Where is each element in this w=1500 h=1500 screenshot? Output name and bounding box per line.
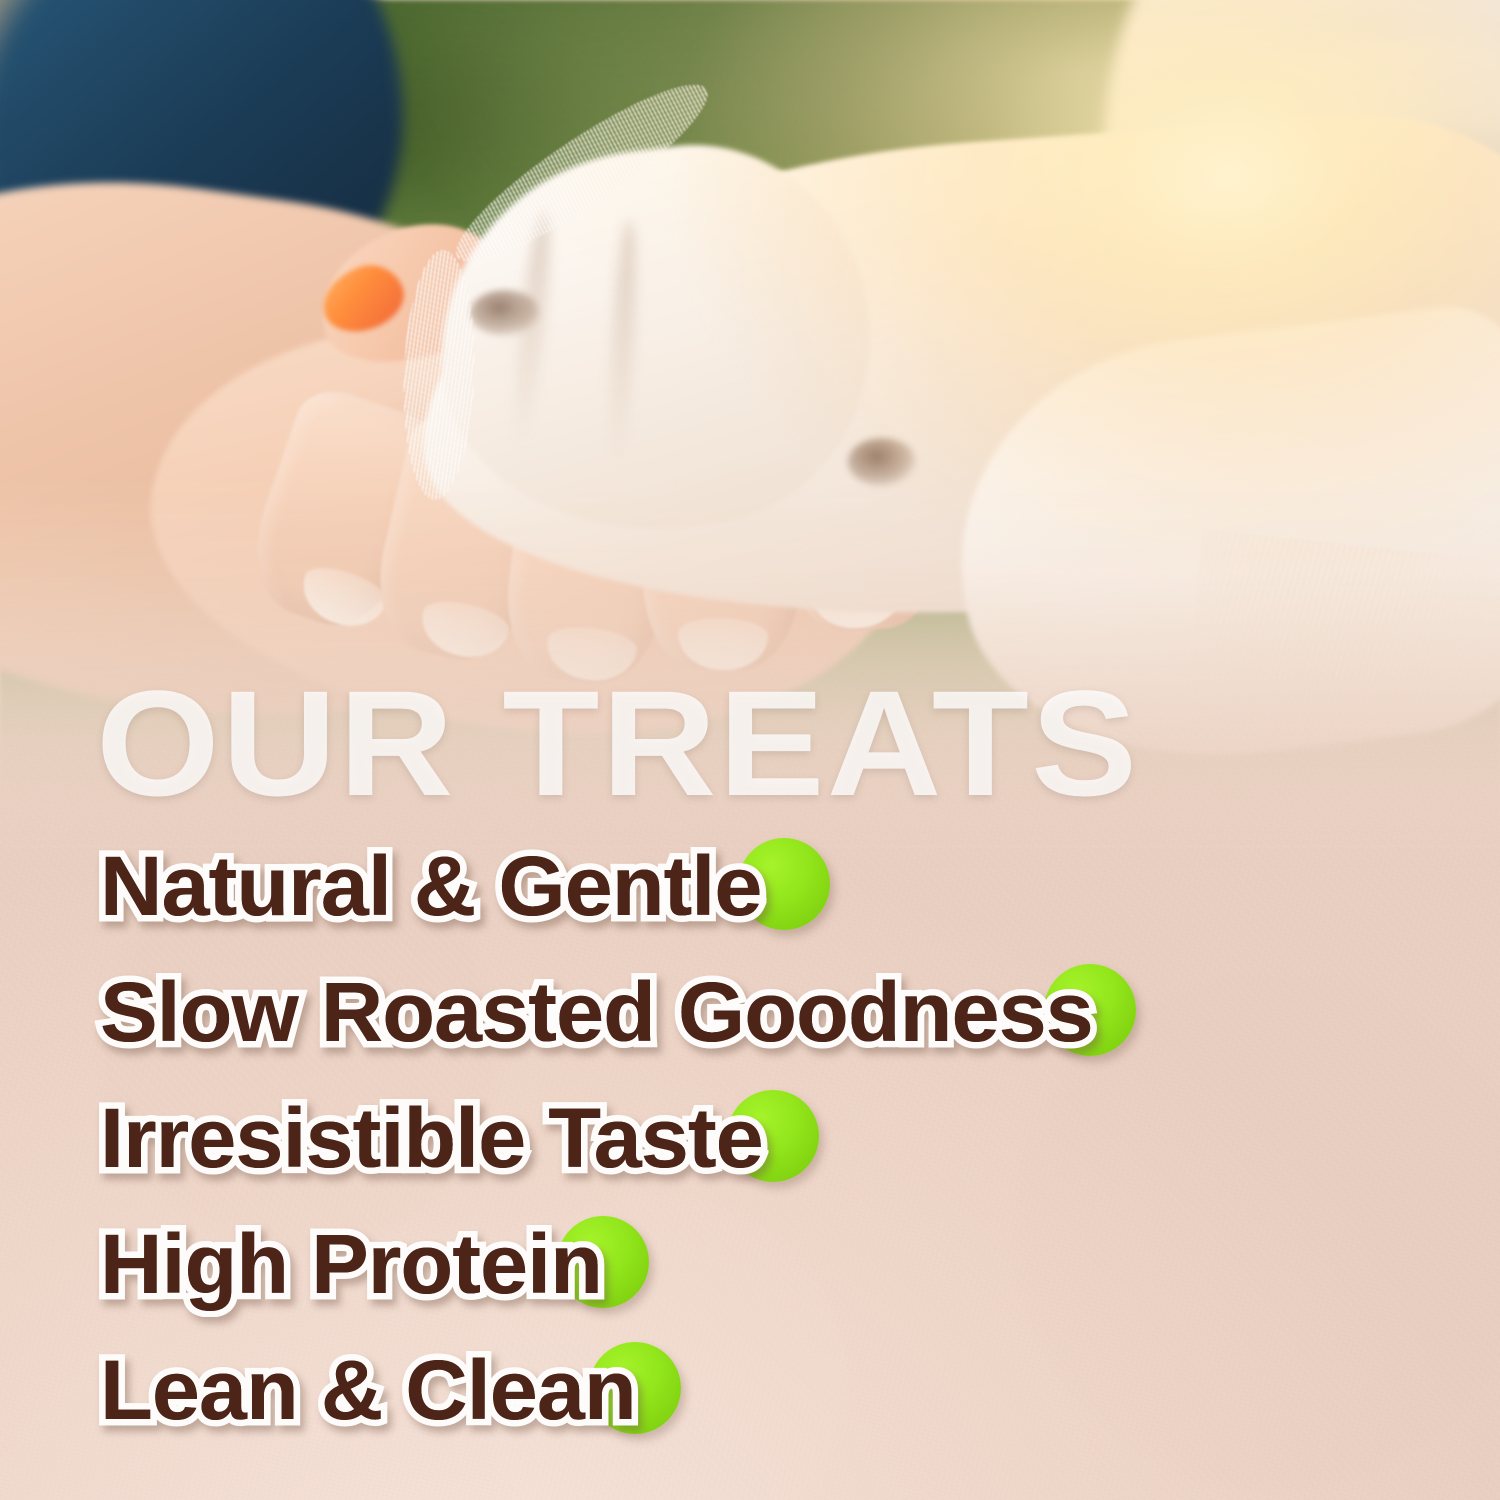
list-item: Lean & Clean Lean & Clean bbox=[0, 1342, 1500, 1468]
feature-label-1-fill: Natural & Gentle bbox=[100, 844, 761, 928]
page-title: OURTREATS bbox=[96, 668, 1347, 818]
paw-dark-spot-2 bbox=[848, 438, 916, 486]
product-feature-poster: OURTREATS Natural & Gentle Natural & Gen… bbox=[0, 0, 1500, 1500]
page-title-word-2: TREATS bbox=[502, 659, 1139, 827]
list-item: Slow Roasted Goodness Slow Roasted Goodn… bbox=[0, 964, 1500, 1090]
feature-label-2-fill: Slow Roasted Goodness bbox=[100, 970, 1093, 1054]
feature-label-2: Slow Roasted Goodness Slow Roasted Goodn… bbox=[100, 970, 1093, 1054]
feature-label-5: Lean & Clean Lean & Clean bbox=[100, 1348, 636, 1432]
feature-label-5-fill: Lean & Clean bbox=[100, 1348, 636, 1432]
feature-label-4-fill: High Protein bbox=[100, 1222, 602, 1306]
feature-label-3-fill: Irresistible Taste bbox=[100, 1096, 763, 1180]
paw-dark-spot-1 bbox=[470, 290, 540, 336]
list-item: Irresistible Taste Irresistible Taste bbox=[0, 1090, 1500, 1216]
list-item: High Protein High Protein bbox=[0, 1216, 1500, 1342]
page-title-word-1: OUR bbox=[96, 659, 456, 827]
feature-label-1: Natural & Gentle Natural & Gentle bbox=[100, 844, 761, 928]
feature-label-4: High Protein High Protein bbox=[100, 1222, 602, 1306]
list-item: Natural & Gentle Natural & Gentle bbox=[0, 838, 1500, 964]
feature-list: Natural & Gentle Natural & Gentle Slow R… bbox=[0, 838, 1500, 1468]
feature-label-3: Irresistible Taste Irresistible Taste bbox=[100, 1096, 763, 1180]
